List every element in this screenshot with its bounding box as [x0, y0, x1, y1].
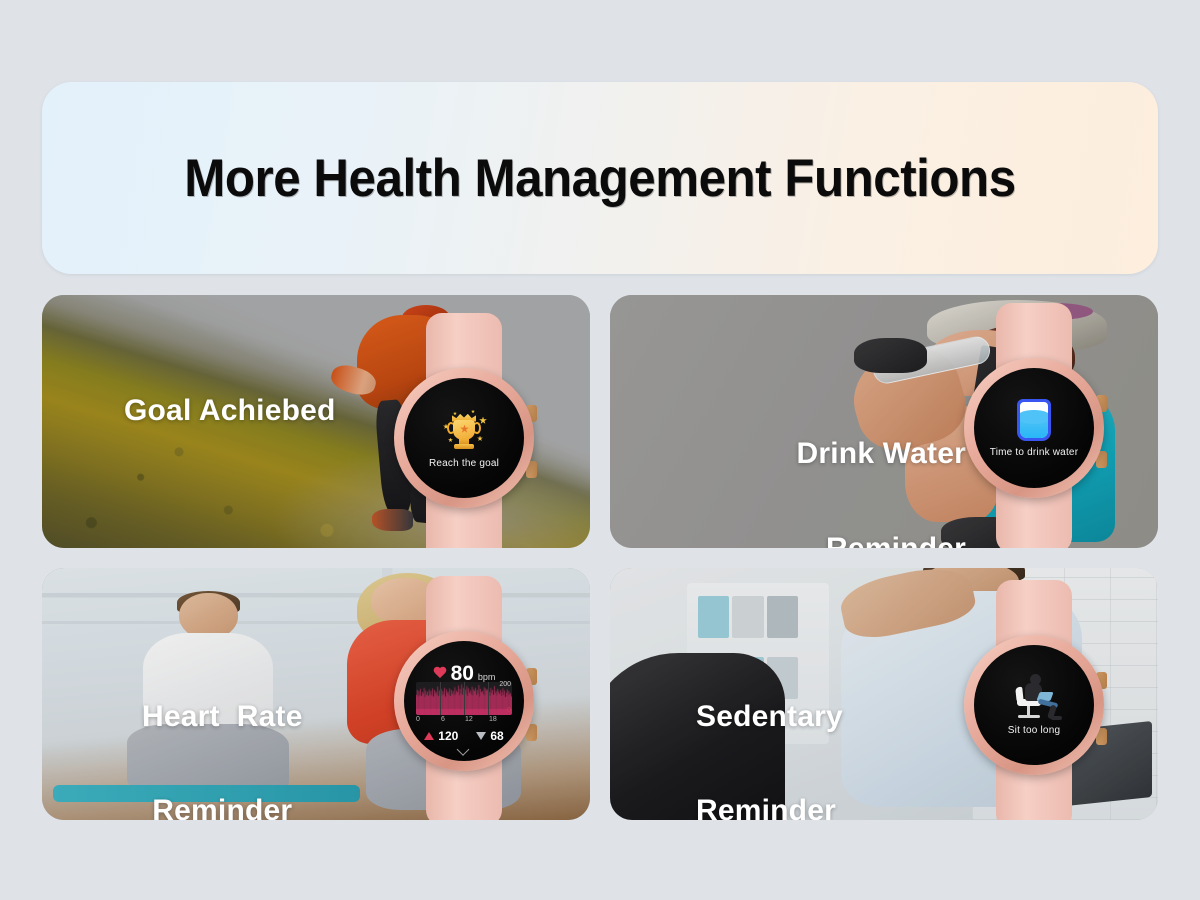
watch-drink-water[interactable]: Time to drink water: [960, 303, 1108, 548]
card-label-line1: Sedentary: [696, 701, 843, 733]
card-label-sedentary: Sedentary Reminder: [696, 638, 843, 821]
heart-rate-chart: [416, 682, 512, 715]
watch-heart-rate[interactable]: 80 bpm 200 0 0 6: [390, 576, 538, 821]
watch-screen-sedentary[interactable]: Sit too long: [974, 645, 1094, 765]
chart-x-tick-12: 12: [465, 716, 473, 723]
card-sedentary[interactable]: Sedentary Reminder Sit too: [610, 568, 1158, 821]
page-title: More Health Management Functions: [184, 148, 1015, 209]
heart-rate-min: 68: [476, 729, 503, 743]
card-label-heart-rate: Heart Rate Reminder: [142, 638, 303, 821]
card-label-goal-achieved: Goal Achiebed: [124, 395, 336, 427]
water-glass-icon: [1017, 399, 1051, 441]
chart-x-tick-18: 18: [489, 716, 497, 723]
heart-icon: [433, 667, 447, 680]
watch-screen-water[interactable]: Time to drink water: [974, 368, 1094, 488]
person-sitting-icon: [1005, 674, 1063, 720]
bpm-value: 80: [451, 663, 474, 684]
card-label-line2: Reminder: [797, 533, 966, 548]
card-drink-water[interactable]: Drink Water Reminder Time to drink water: [610, 295, 1158, 548]
watch-goal-achieved[interactable]: Reach the goal: [390, 313, 538, 548]
heart-rate-max: 120: [424, 729, 458, 743]
card-goal-achieved[interactable]: Goal Achiebed: [42, 295, 590, 548]
chart-x-tick-0: 0: [416, 716, 420, 723]
heart-rate-max-value: 120: [438, 729, 458, 743]
card-label-line2: Reminder: [142, 795, 303, 820]
watch-screen-goal[interactable]: Reach the goal: [404, 378, 524, 498]
watch-caption-water: Time to drink water: [990, 447, 1078, 458]
chart-y-max-label: 200: [499, 681, 511, 688]
chart-x-tick-6: 6: [441, 716, 445, 723]
triangle-up-icon: [424, 732, 434, 740]
watch-caption-goal: Reach the goal: [429, 458, 499, 469]
watch-screen-heart-rate[interactable]: 80 bpm 200 0 0 6: [404, 641, 524, 761]
card-label-line1: Drink Water: [797, 438, 966, 470]
heart-rate-min-value: 68: [490, 729, 503, 743]
card-label-drink-water: Drink Water Reminder: [797, 375, 966, 548]
watch-sedentary[interactable]: Sit too long: [960, 580, 1108, 821]
triangle-down-icon: [476, 732, 486, 740]
page-root: More Health Management Functions Goal Ac…: [0, 0, 1200, 900]
header-banner: More Health Management Functions: [42, 82, 1158, 274]
chart-y-min-label: 0: [507, 707, 511, 714]
feature-card-grid: Goal Achiebed: [42, 295, 1158, 820]
card-label-line2: Reminder: [696, 795, 843, 820]
card-heart-rate[interactable]: Heart Rate Reminder 80 bpm: [42, 568, 590, 821]
trophy-icon: [441, 408, 487, 454]
chevron-down-icon[interactable]: [459, 745, 470, 751]
watch-caption-sedentary: Sit too long: [1008, 725, 1060, 736]
bpm-unit: bpm: [478, 672, 496, 682]
card-label-line1: Heart Rate: [142, 701, 303, 733]
